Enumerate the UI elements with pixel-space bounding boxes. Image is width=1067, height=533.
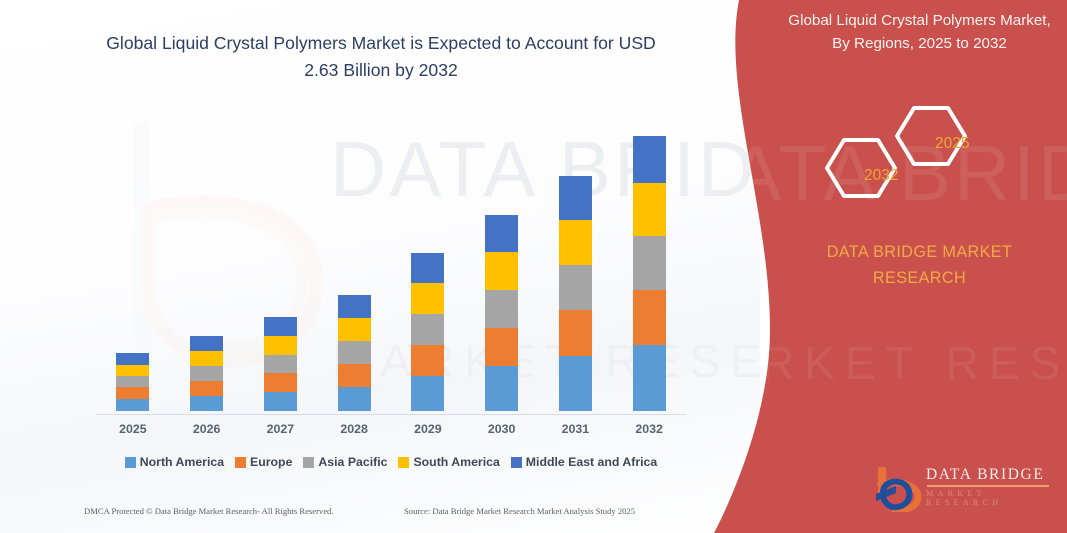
- bar-column: [248, 110, 312, 411]
- bar-segment: [264, 355, 297, 373]
- brand-name-text: DATA BRIDGE MARKET RESEARCH: [778, 240, 1061, 292]
- brand-logo-name: DATA BRIDGE: [926, 467, 1064, 483]
- bar-segment: [559, 310, 592, 356]
- x-axis-label: 2026: [175, 422, 239, 436]
- stacked-bar: [559, 176, 592, 411]
- x-axis-label: 2031: [543, 422, 607, 436]
- x-axis-labels: 20252026202720282029203020312032: [96, 422, 686, 436]
- stacked-bar: [338, 295, 371, 411]
- bar-segment: [338, 364, 371, 387]
- legend-item[interactable]: Europe: [235, 455, 292, 469]
- stacked-bar: [411, 253, 444, 411]
- stacked-bar: [485, 215, 518, 411]
- bar-column: [543, 110, 607, 411]
- infographic-canvas: DATA BRIDGE MARKET RESEARCH Global Liqui…: [0, 0, 1067, 533]
- bar-segment: [190, 351, 223, 366]
- legend-swatch: [235, 457, 246, 468]
- bar-segment: [264, 336, 297, 355]
- legend-item[interactable]: Asia Pacific: [303, 455, 387, 469]
- bar-segment: [411, 345, 444, 376]
- x-axis-label: 2025: [101, 422, 165, 436]
- stacked-bar-chart: [96, 110, 686, 415]
- brand-logo-divider: [927, 485, 1049, 487]
- bar-segment: [411, 283, 444, 314]
- bar-column: [175, 110, 239, 411]
- brand-watermark-line-2: MARKET RESEARCH: [700, 336, 1067, 390]
- stacked-bar: [264, 317, 297, 411]
- footer-source: Source: Data Bridge Market Research Mark…: [404, 506, 635, 516]
- page-title: Global Liquid Crystal Polymers Market is…: [96, 30, 666, 85]
- bar-segment: [190, 366, 223, 381]
- legend-item[interactable]: Middle East and Africa: [511, 455, 657, 469]
- bar-column: [470, 110, 534, 411]
- bar-segment: [190, 381, 223, 396]
- bar-segment: [190, 336, 223, 351]
- legend-label: South America: [413, 455, 499, 469]
- legend-label: Middle East and Africa: [526, 455, 657, 469]
- bar-segment: [264, 373, 297, 392]
- bar-segment: [411, 314, 444, 345]
- bar-segment: [190, 396, 223, 411]
- year-hexagons: 2025 2032: [818, 96, 1008, 206]
- data-bridge-logo-icon: [874, 464, 922, 512]
- brand-panel-content: DATA BRIDGE MARKET RESEARCH Global Liqui…: [700, 0, 1067, 533]
- bar-segment: [559, 220, 592, 265]
- bar-column: [101, 110, 165, 411]
- bar-segment: [633, 290, 666, 345]
- bar-segment: [338, 295, 371, 318]
- bar-segment: [633, 183, 666, 236]
- legend-swatch: [511, 457, 522, 468]
- hexagon-shapes-icon: [818, 96, 1008, 206]
- chart-legend: North AmericaEuropeAsia PacificSouth Ame…: [96, 455, 686, 469]
- bar-segment: [485, 215, 518, 252]
- bar-column: [617, 110, 681, 411]
- hex-label-2025: 2025: [935, 135, 969, 153]
- bar-segment: [485, 366, 518, 411]
- bar-segment: [116, 353, 149, 365]
- x-axis-label: 2032: [617, 422, 681, 436]
- x-axis-label: 2027: [248, 422, 312, 436]
- x-axis-label: 2028: [322, 422, 386, 436]
- bar-segment: [338, 318, 371, 341]
- legend-label: North America: [140, 455, 224, 469]
- bar-column: [396, 110, 460, 411]
- x-axis-line: [96, 414, 686, 415]
- bar-column: [322, 110, 386, 411]
- bar-segment: [485, 252, 518, 290]
- legend-label: Asia Pacific: [318, 455, 387, 469]
- bar-segment: [559, 176, 592, 220]
- bar-segment: [485, 290, 518, 328]
- legend-swatch: [125, 457, 136, 468]
- bar-segment: [411, 253, 444, 283]
- bar-segment: [411, 376, 444, 411]
- hex-label-2032: 2032: [864, 167, 898, 185]
- bar-segment: [338, 387, 371, 411]
- brand-logo: DATA BRIDGE MARKET RESEARCH: [874, 462, 1064, 514]
- stacked-bar: [633, 136, 666, 411]
- stacked-bar: [116, 353, 149, 411]
- x-axis-label: 2030: [470, 422, 534, 436]
- bar-segment: [633, 136, 666, 183]
- bar-segment: [116, 365, 149, 376]
- legend-label: Europe: [250, 455, 292, 469]
- bar-segment: [559, 356, 592, 411]
- brand-logo-text: DATA BRIDGE MARKET RESEARCH: [926, 467, 1064, 507]
- legend-item[interactable]: South America: [398, 455, 499, 469]
- bar-segment: [485, 328, 518, 366]
- brand-panel: DATA BRIDGE MARKET RESEARCH Global Liqui…: [700, 0, 1067, 533]
- bar-segment: [264, 317, 297, 336]
- legend-swatch: [398, 457, 409, 468]
- bar-segment: [559, 265, 592, 310]
- bar-segment: [633, 236, 666, 290]
- legend-item[interactable]: North America: [125, 455, 224, 469]
- footer-copyright: DMCA Protected © Data Bridge Market Rese…: [84, 506, 334, 516]
- brand-panel-title: Global Liquid Crystal Polymers Market, B…: [778, 10, 1061, 56]
- brand-logo-tagline: MARKET RESEARCH: [926, 489, 1064, 507]
- chart-plot-area: [96, 110, 686, 411]
- x-axis-label: 2029: [396, 422, 460, 436]
- chart-panel: DATA BRIDGE MARKET RESEARCH Global Liqui…: [0, 0, 760, 533]
- bar-segment: [633, 345, 666, 411]
- bar-segment: [116, 387, 149, 399]
- bar-segment: [116, 376, 149, 387]
- bar-segment: [116, 399, 149, 411]
- stacked-bar: [190, 336, 223, 411]
- legend-swatch: [303, 457, 314, 468]
- bar-segment: [264, 392, 297, 411]
- bar-segment: [338, 341, 371, 364]
